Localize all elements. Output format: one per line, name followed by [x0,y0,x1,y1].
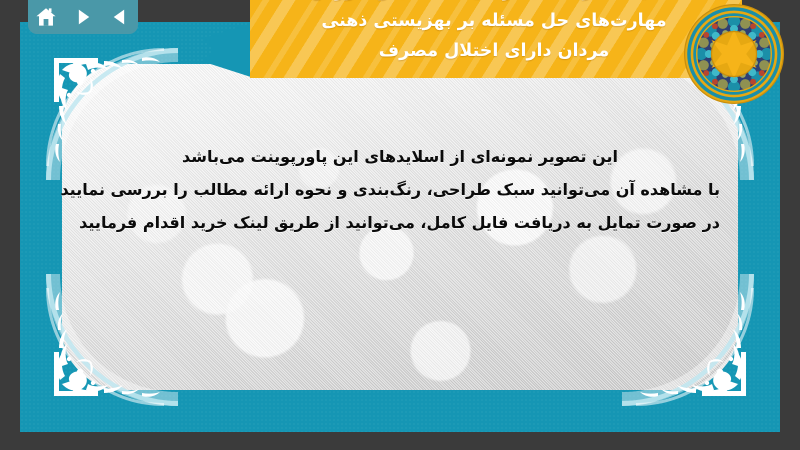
next-triangle-icon [73,7,93,27]
body-line-2: با مشاهده آن می‌توانید سبک طراحی، رنگ‌بن… [80,173,720,206]
viewer-stage: این تصویر نمونه‌ای از اسلایدهای این پاور… [0,0,800,450]
presentation-slide[interactable]: این تصویر نمونه‌ای از اسلایدهای این پاور… [20,22,780,432]
slide-body-text: این تصویر نمونه‌ای از اسلایدهای این پاور… [80,140,720,239]
slide-title-banner: مقایسه اثربخشی درمان شناختی و آموزش مهار… [250,0,742,78]
home-icon [35,6,57,28]
body-line-3: در صورت تمایل به دریافت فایل کامل، می‌تو… [80,206,720,239]
title-line-2: مهارت‌های حل مسئله بر بهزیستی ذهنی [260,6,728,36]
next-slide-button[interactable] [70,4,96,30]
previous-triangle-icon [110,7,130,27]
home-button[interactable] [33,4,59,30]
body-line-1: این تصویر نمونه‌ای از اسلایدهای این پاور… [80,140,720,173]
title-line-3: مردان دارای اختلال مصرف [260,36,728,66]
previous-slide-button[interactable] [107,4,133,30]
islamic-geometric-medallion [682,2,786,106]
slide-navigation-bar [28,0,138,34]
slide-title: مقایسه اثربخشی درمان شناختی و آموزش مهار… [260,0,728,66]
